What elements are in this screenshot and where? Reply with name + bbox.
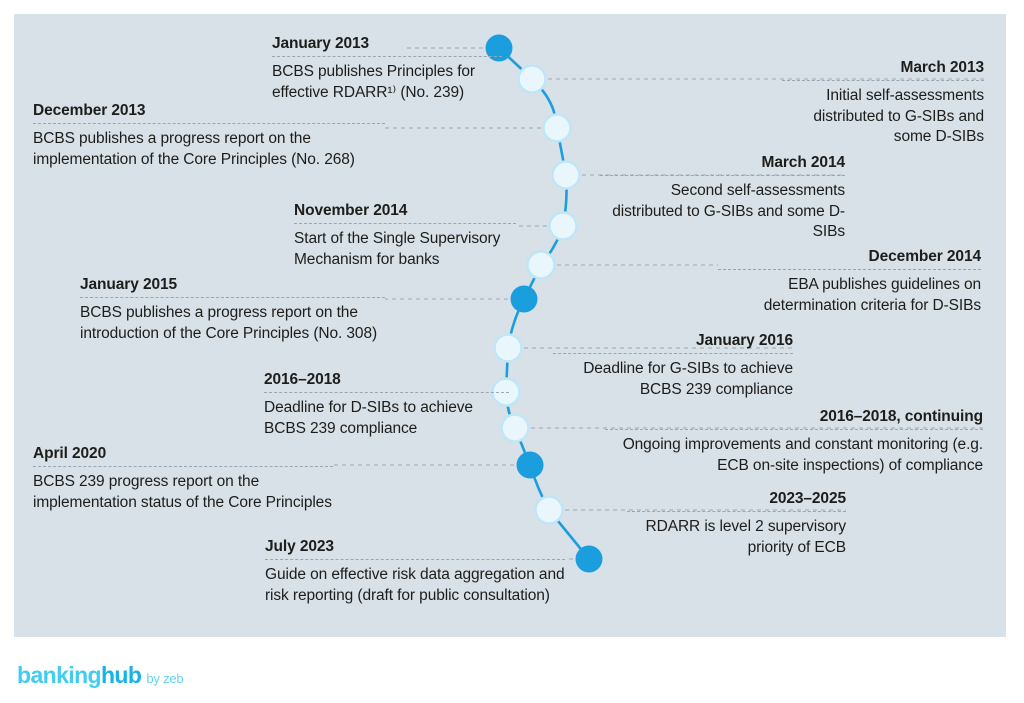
entry-description: Initial self-assessments distributed to … (782, 86, 984, 148)
timeline-entry-dec2013: December 2013 BCBS publishes a progress … (33, 101, 385, 170)
timeline-entry-dec2014: December 2014 EBA publishes guidelines o… (718, 247, 981, 316)
timeline-entry-jul2023: July 2023 Guide on effective risk data a… (265, 537, 565, 606)
entry-date: January 2013 (272, 34, 502, 56)
entry-divider (294, 223, 516, 224)
timeline-entry-range2023: 2023–2025 RDARR is level 2 supervisory p… (627, 489, 846, 558)
entry-description: EBA publishes guidelines on determinatio… (718, 275, 981, 316)
entry-divider (264, 392, 509, 393)
entry-date: December 2013 (33, 101, 385, 123)
entry-divider (33, 123, 385, 124)
entry-date: March 2014 (600, 153, 845, 175)
timeline-entry-mar2014: March 2014 Second self-assessments distr… (600, 153, 845, 243)
entry-description: Deadline for G-SIBs to achieve BCBS 239 … (553, 359, 793, 400)
logo-text-banking: banking (17, 662, 101, 689)
timeline-entry-apr2020: April 2020 BCBS 239 progress report on t… (33, 444, 333, 513)
entry-divider (627, 511, 846, 512)
entry-divider (272, 56, 502, 57)
logo-text-hub: hub (101, 662, 141, 689)
entry-divider (553, 353, 793, 354)
entry-date: November 2014 (294, 201, 516, 223)
entry-date: July 2023 (265, 537, 565, 559)
entry-description: Deadline for D-SIBs to achieve BCBS 239 … (264, 398, 509, 439)
entry-description: BCBS publishes a progress report on the … (80, 303, 385, 344)
entry-date: April 2020 (33, 444, 333, 466)
entry-date: January 2016 (553, 331, 793, 353)
timeline-entry-nov2014: November 2014 Start of the Single Superv… (294, 201, 516, 270)
entry-date: March 2013 (782, 58, 984, 80)
entry-description: BCBS publishes Principles for effective … (272, 62, 502, 103)
entry-date: 2023–2025 (627, 489, 846, 511)
entry-divider (718, 269, 981, 270)
entry-divider (80, 297, 385, 298)
bankinghub-logo[interactable]: banking hub by zeb (17, 662, 183, 689)
entry-description: BCBS 239 progress report on the implemen… (33, 472, 333, 513)
entry-divider (265, 559, 565, 560)
entry-description: BCBS publishes a progress report on the … (33, 129, 385, 170)
entry-description: RDARR is level 2 supervisory priority of… (627, 517, 846, 558)
entry-date: January 2015 (80, 275, 385, 297)
entry-divider (600, 175, 845, 176)
timeline-entry-range2016b: 2016–2018, continuing Ongoing improvemen… (605, 407, 983, 476)
timeline-entry-jan2015: January 2015 BCBS publishes a progress r… (80, 275, 385, 344)
timeline-entry-jan2013: January 2013 BCBS publishes Principles f… (272, 34, 502, 103)
timeline-entry-jan2016: January 2016 Deadline for G-SIBs to achi… (553, 331, 793, 400)
timeline-entry-range2016a: 2016–2018 Deadline for D-SIBs to achieve… (264, 370, 509, 439)
infographic-canvas: January 2013 BCBS publishes Principles f… (0, 0, 1024, 703)
entry-divider (782, 80, 984, 81)
entry-divider (605, 429, 983, 430)
entry-divider (33, 466, 333, 467)
timeline-entry-mar2013: March 2013 Initial self-assessments dist… (782, 58, 984, 148)
entry-date: 2016–2018 (264, 370, 509, 392)
entry-date: 2016–2018, continuing (605, 407, 983, 429)
entry-description: Guide on effective risk data aggregation… (265, 565, 565, 606)
entry-date: December 2014 (718, 247, 981, 269)
entry-description: Ongoing improvements and constant monito… (605, 435, 983, 476)
entry-description: Second self-assessments distributed to G… (600, 181, 845, 243)
logo-text-byzeb: by zeb (146, 671, 183, 686)
entry-description: Start of the Single Supervisory Mechanis… (294, 229, 516, 270)
